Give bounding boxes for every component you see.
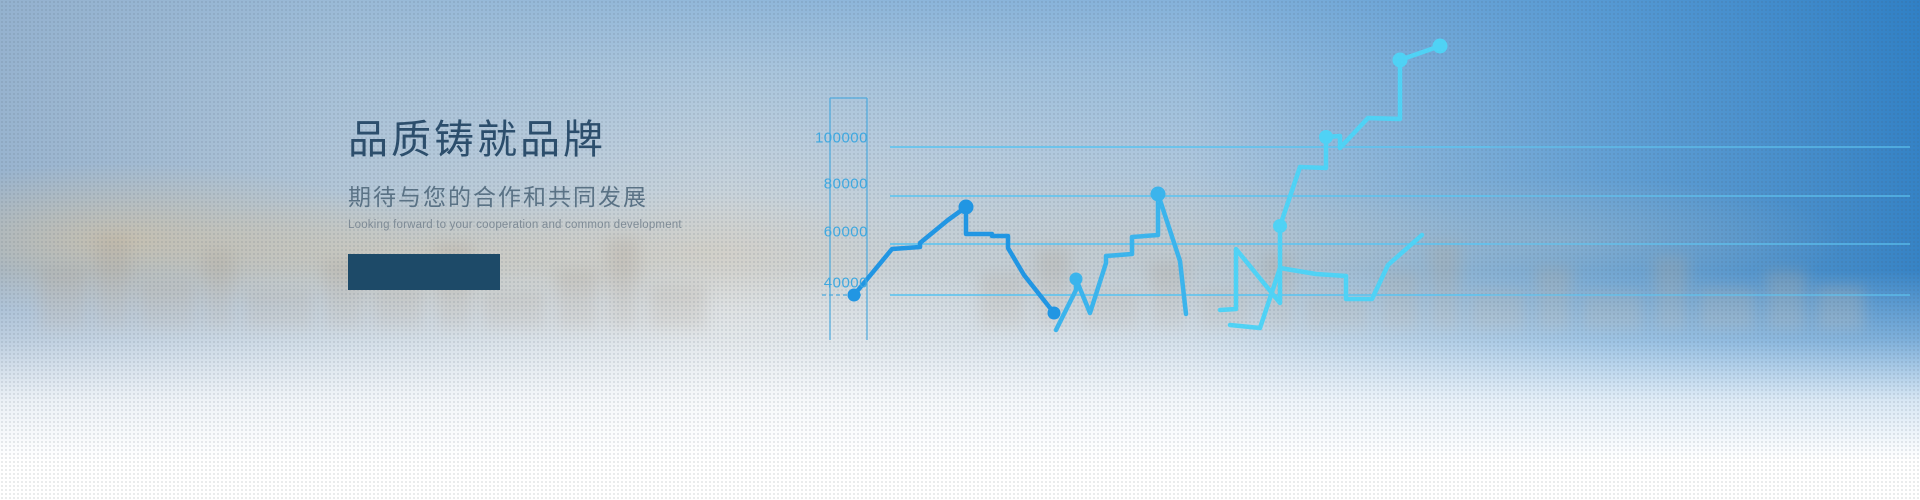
chart-gridlines-right <box>890 147 1910 295</box>
chart-plot-area <box>760 0 1920 500</box>
cta-button[interactable] <box>348 254 500 290</box>
y-tick-40000: 40000 <box>824 275 868 292</box>
series-marker <box>1273 219 1287 233</box>
series-marker <box>1433 39 1448 54</box>
series-marker <box>1048 307 1061 320</box>
series-line-3 <box>1220 46 1440 310</box>
series-marker <box>1319 130 1333 144</box>
line-chart: 100000 80000 60000 40000 <box>760 0 1920 500</box>
series-marker <box>1151 187 1166 202</box>
y-tick-60000: 60000 <box>824 224 868 241</box>
series-marker <box>959 200 974 215</box>
y-tick-80000: 80000 <box>824 176 868 193</box>
series-line-1 <box>854 207 1054 313</box>
page-subtitle: 期待与您的合作和共同发展 <box>348 186 768 209</box>
hero-copy: 品质铸就品牌 期待与您的合作和共同发展 Looking forward to y… <box>348 120 768 290</box>
chart-gridlines <box>890 147 1490 295</box>
page-tagline-english: Looking forward to your cooperation and … <box>348 220 768 232</box>
series-line-2 <box>1056 194 1186 330</box>
page-title: 品质铸就品牌 <box>348 120 768 160</box>
series-line-4 <box>1230 235 1422 328</box>
series-marker <box>1393 53 1408 68</box>
hero-banner: 品质铸就品牌 期待与您的合作和共同发展 Looking forward to y… <box>0 0 1920 500</box>
series-marker <box>1070 273 1083 286</box>
chart-y-axis-ticks: 100000 80000 60000 40000 <box>760 0 868 500</box>
y-tick-100000: 100000 <box>815 130 868 147</box>
